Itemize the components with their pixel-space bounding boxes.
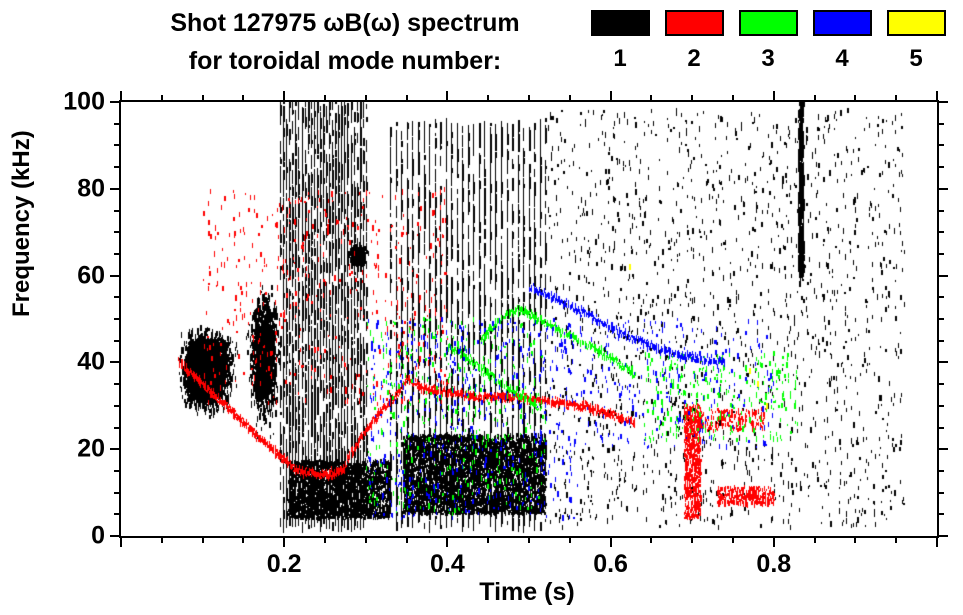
x-tick-minor [324,536,326,543]
y-tick-minor [114,492,121,494]
y-tick-label: 20 [77,435,105,464]
y-tick-minor [114,383,121,385]
legend-item-2: 2 [657,10,731,78]
y-tick-minor [114,123,121,125]
y-tick-label: 60 [77,261,105,290]
legend: 12345 [583,10,955,78]
x-tick-minor [854,536,856,543]
x-tick-major [773,536,775,547]
legend-label-1: 1 [613,40,626,78]
y-tick-major-right [937,101,948,103]
legend-item-4: 4 [805,10,879,78]
title-line-1: Shot 127975 ωB(ω) spectrum [110,4,580,42]
y-tick-minor [114,513,121,515]
y-tick-minor-right [937,470,944,472]
y-tick-major-right [937,448,948,450]
legend-swatch-n4 [813,10,872,36]
y-tick-minor [114,210,121,212]
x-axis-title: Time (s) [119,578,935,607]
y-tick-minor [114,296,121,298]
y-tick-minor [114,253,121,255]
x-tick-minor-top [406,95,408,102]
x-tick-minor-top [814,95,816,102]
x-tick-minor [365,536,367,543]
y-tick-label: 0 [91,522,105,551]
x-tick-label: 0.4 [430,550,465,579]
y-tick-minor-right [937,253,944,255]
x-tick-major-top [120,91,122,102]
y-tick-minor-right [937,405,944,407]
spectrogram-canvas [121,102,937,536]
x-tick-minor [650,536,652,543]
y-tick-minor-right [937,231,944,233]
x-tick-minor [487,536,489,543]
y-tick-major-right [937,275,948,277]
x-tick-minor [691,536,693,543]
x-tick-minor [569,536,571,543]
x-tick-minor-top [487,95,489,102]
x-tick-minor-top [528,95,530,102]
y-tick-minor [114,144,121,146]
legend-item-3: 3 [731,10,805,78]
x-tick-minor-top [854,95,856,102]
x-tick-minor-top [365,95,367,102]
y-tick-minor-right [937,144,944,146]
y-tick-major-right [937,361,948,363]
x-tick-major [936,536,938,547]
x-tick-minor-top [732,95,734,102]
y-tick-minor-right [937,318,944,320]
x-tick-major [283,536,285,547]
x-tick-minor [161,536,163,543]
x-tick-minor [202,536,204,543]
y-tick-major [110,448,121,450]
x-tick-minor-top [895,95,897,102]
x-tick-minor-top [569,95,571,102]
legend-swatch-n1 [591,10,650,36]
legend-label-3: 3 [761,40,774,78]
y-tick-major [110,188,121,190]
y-tick-minor [114,340,121,342]
y-tick-minor-right [937,340,944,342]
x-tick-minor-top [161,95,163,102]
legend-swatch-n3 [739,10,798,36]
y-tick-major-right [937,535,948,537]
figure-title: Shot 127975 ωB(ω) spectrum for toroidal … [110,4,580,80]
y-tick-label: 40 [77,348,105,377]
x-tick-minor [814,536,816,543]
x-tick-minor-top [650,95,652,102]
y-axis-title: Frequency (kHz) [8,130,36,317]
y-tick-major [110,275,121,277]
legend-item-1: 1 [583,10,657,78]
x-tick-minor [406,536,408,543]
x-tick-major-top [446,91,448,102]
x-tick-minor-top [691,95,693,102]
title-line-2: for toroidal mode number: [110,42,580,80]
y-tick-label: 100 [63,88,105,117]
plot-canvas-wrap [121,102,937,536]
x-tick-major [446,536,448,547]
legend-label-5: 5 [909,40,922,78]
x-tick-minor [732,536,734,543]
x-tick-major-top [936,91,938,102]
y-tick-major-right [937,188,948,190]
legend-item-5: 5 [879,10,953,78]
y-tick-minor [114,470,121,472]
x-tick-label: 0.2 [267,550,302,579]
x-tick-label: 0.8 [756,550,791,579]
y-tick-minor [114,318,121,320]
x-tick-minor-top [242,95,244,102]
y-tick-minor-right [937,383,944,385]
legend-swatch-row: 12345 [583,10,955,78]
y-tick-minor [114,166,121,168]
legend-swatch-n5 [887,10,946,36]
legend-label-4: 4 [835,40,848,78]
x-tick-major [610,536,612,547]
y-tick-minor-right [937,492,944,494]
x-tick-major-top [773,91,775,102]
x-tick-minor-top [202,95,204,102]
x-tick-major-top [610,91,612,102]
y-tick-minor [114,427,121,429]
x-tick-minor-top [324,95,326,102]
x-tick-label: 0.6 [593,550,628,579]
y-tick-minor-right [937,513,944,515]
x-tick-minor [528,536,530,543]
y-tick-major [110,361,121,363]
plot-area: 0204060801000.20.40.60.8 [119,100,939,538]
legend-swatch-n2 [665,10,724,36]
y-tick-minor-right [937,123,944,125]
y-tick-minor-right [937,210,944,212]
y-tick-minor-right [937,296,944,298]
x-tick-minor [242,536,244,543]
figure-root: Shot 127975 ωB(ω) spectrum for toroidal … [0,0,963,615]
legend-label-2: 2 [687,40,700,78]
x-tick-major [120,536,122,547]
y-tick-minor-right [937,166,944,168]
y-tick-label: 80 [77,174,105,203]
y-tick-minor-right [937,427,944,429]
x-tick-minor [895,536,897,543]
x-tick-major-top [283,91,285,102]
y-tick-minor [114,405,121,407]
y-tick-minor [114,231,121,233]
